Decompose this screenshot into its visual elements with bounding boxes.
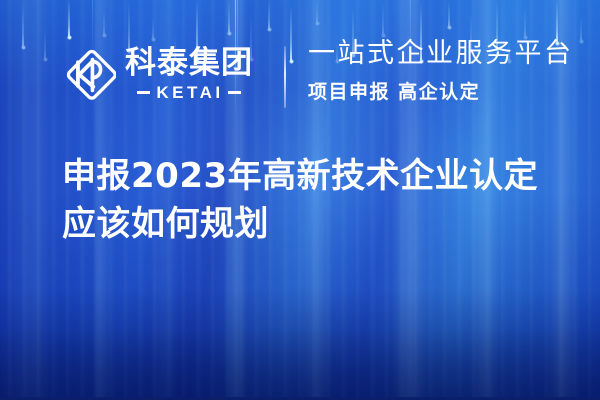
tagline-block: 一站式企业服务平台 项目申报 高企认定 [308,38,574,104]
promo-banner: 科泰集团 KETAI 一站式企业服务平台 项目申报 高企认定 申报2023年高新… [0,0,600,400]
brand-logo[interactable]: 科泰集团 KETAI [58,46,253,104]
header-divider [284,46,286,108]
page-title: 申报2023年高新技术企业认定应该如何规划 [62,152,572,249]
tagline-main: 一站式企业服务平台 [308,38,574,70]
dash-left-icon [137,91,150,94]
brand-name-en-row: KETAI [125,83,253,103]
brand-wordmark: 科泰集团 KETAI [125,47,253,103]
brand-name-en: KETAI [156,83,223,103]
brand-name-cn: 科泰集团 [125,47,253,80]
ketai-kt-diamond-logo-icon [58,46,116,104]
banner-header: 科泰集团 KETAI 一站式企业服务平台 项目申报 高企认定 [0,34,600,116]
tagline-sub: 项目申报 高企认定 [308,77,574,104]
dash-right-icon [228,91,241,94]
